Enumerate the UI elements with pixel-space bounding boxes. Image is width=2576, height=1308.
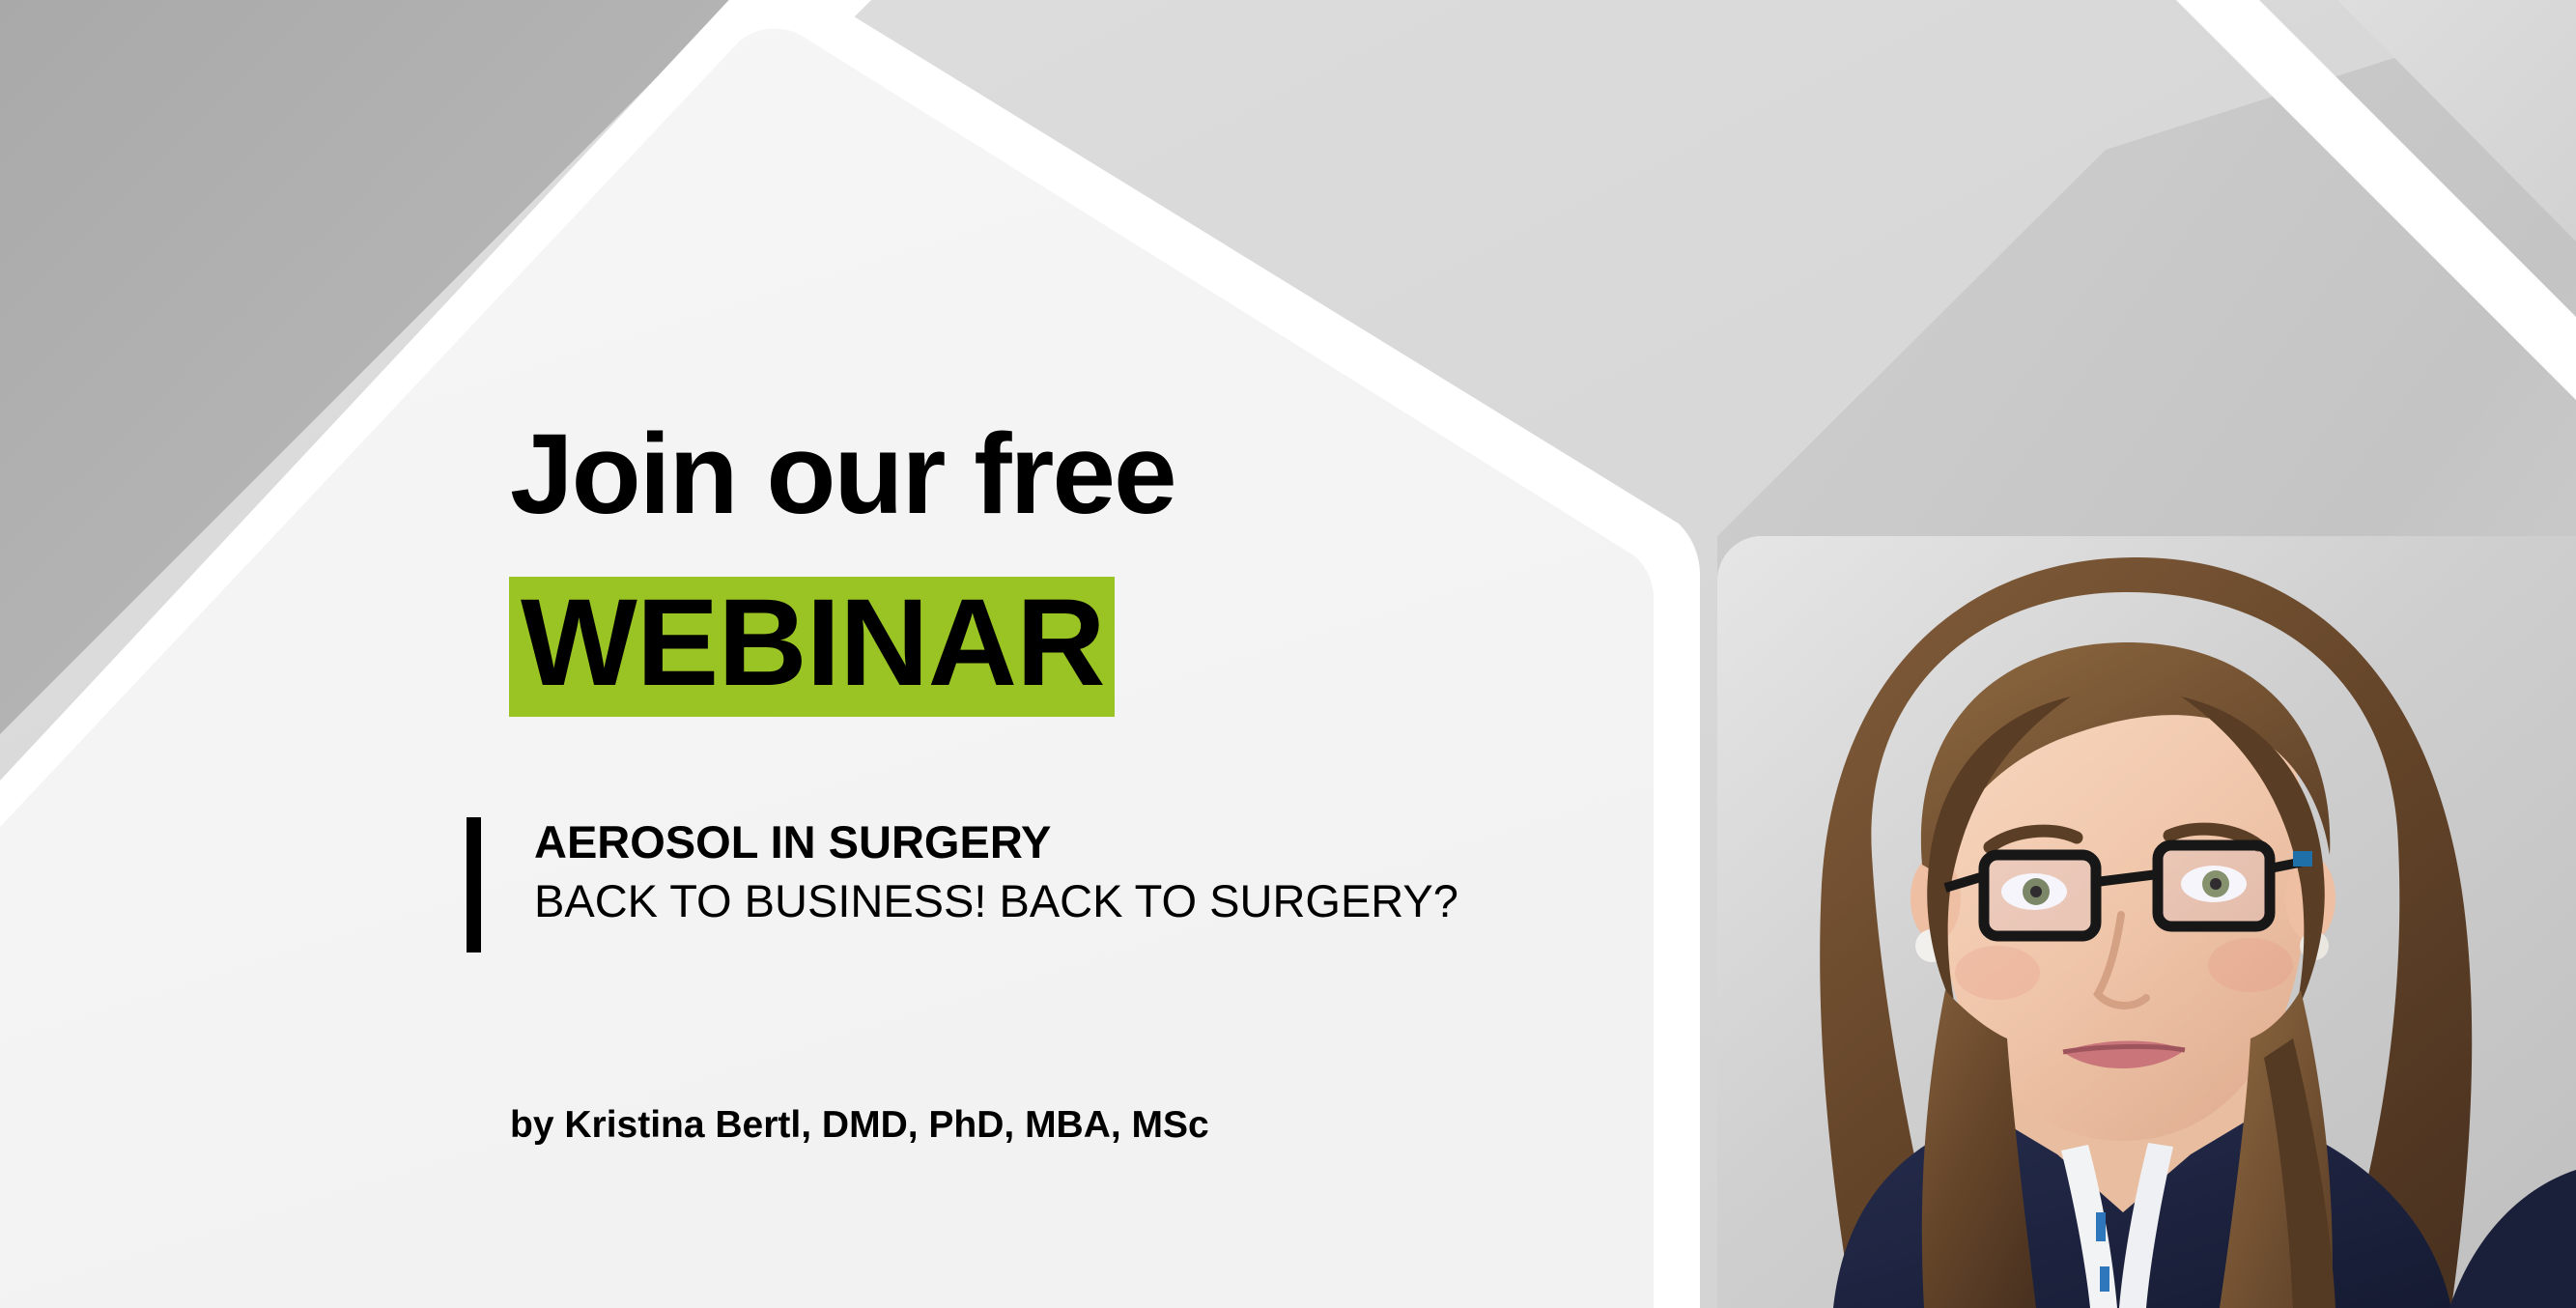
- webinar-promo-banner: Join our free WEBINAR AEROSOL IN SURGERY…: [0, 0, 2576, 1308]
- subtitle-text-group: AEROSOL IN SURGERY BACK TO BUSINESS! BAC…: [534, 817, 1458, 924]
- vertical-accent-bar: [467, 817, 481, 953]
- banner-content: Join our free WEBINAR AEROSOL IN SURGERY…: [0, 0, 1642, 1308]
- headline-webinar-highlight: WEBINAR: [509, 577, 1115, 717]
- lanyard-mark-2: [2100, 1266, 2109, 1292]
- speaker-byline: by Kristina Bertl, DMD, PhD, MBA, MSc: [510, 1106, 1209, 1144]
- speaker-photo-panel: [1717, 536, 2576, 1308]
- blush-right: [2208, 938, 2293, 992]
- glasses-temple-accent: [2293, 851, 2312, 867]
- speaker-photo: [1717, 536, 2576, 1308]
- headline-webinar: WEBINAR: [521, 582, 1105, 705]
- blush-left: [1955, 946, 2040, 1000]
- subtitle-block: AEROSOL IN SURGERY BACK TO BUSINESS! BAC…: [467, 817, 1458, 953]
- lanyard-mark-1: [2096, 1212, 2106, 1241]
- portrait-illustration: [1717, 536, 2576, 1308]
- subtitle-tagline: BACK TO BUSINESS! BACK TO SURGERY?: [534, 878, 1458, 924]
- headline-join-our-free: Join our free: [510, 417, 1175, 531]
- subtitle-topic: AEROSOL IN SURGERY: [534, 819, 1458, 865]
